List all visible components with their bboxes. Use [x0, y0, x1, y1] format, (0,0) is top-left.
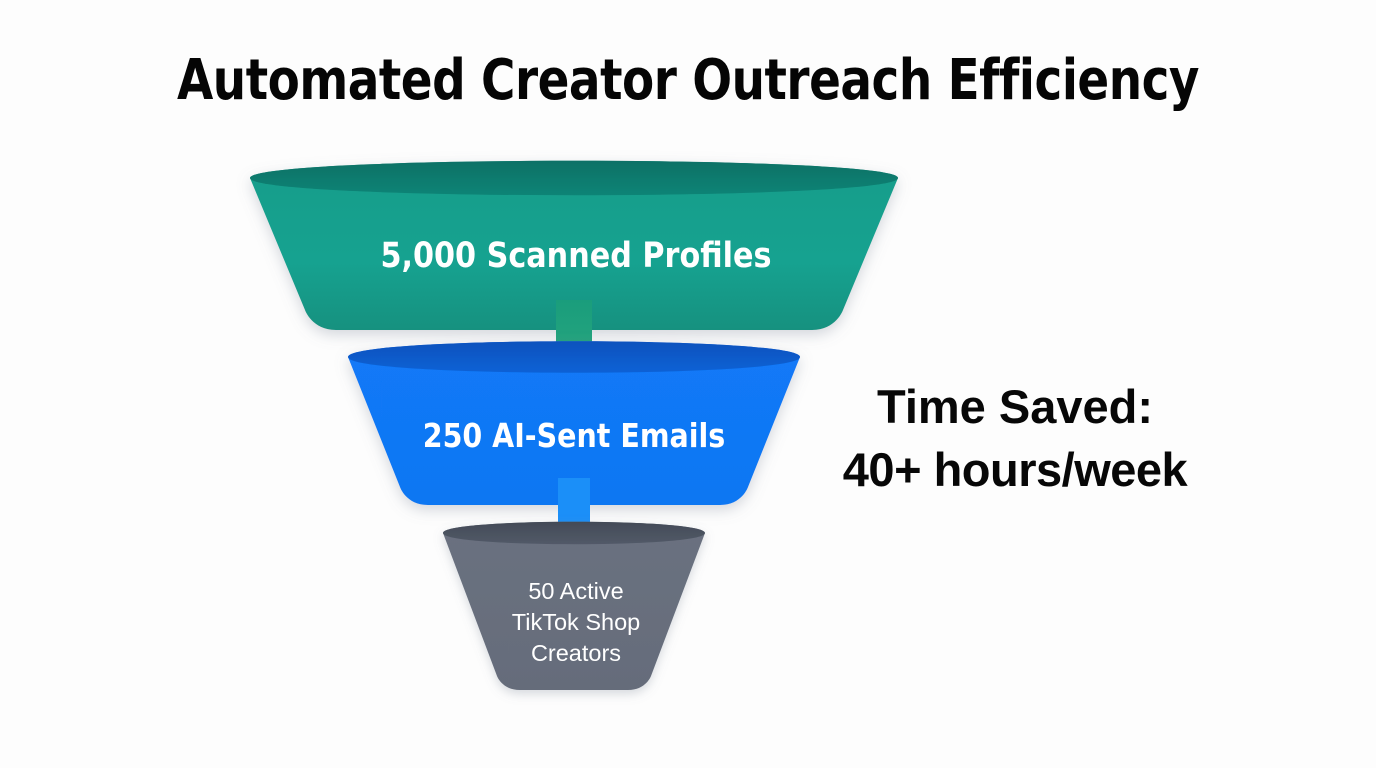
time-saved-line-2: 40+ hours/week: [800, 438, 1230, 501]
funnel-stage-1-rim: [250, 161, 898, 196]
funnel-stage-3-rim: [443, 522, 705, 545]
time-saved-line-1: Time Saved:: [800, 375, 1230, 438]
time-saved-annotation: Time Saved: 40+ hours/week: [800, 375, 1230, 502]
funnel-stage-3[interactable]: [443, 522, 705, 690]
funnel-stage-2-rim: [348, 341, 800, 373]
page-title: Automated Creator Outreach Efficiency: [48, 52, 1328, 111]
funnel-stage-3-body: [443, 522, 705, 690]
